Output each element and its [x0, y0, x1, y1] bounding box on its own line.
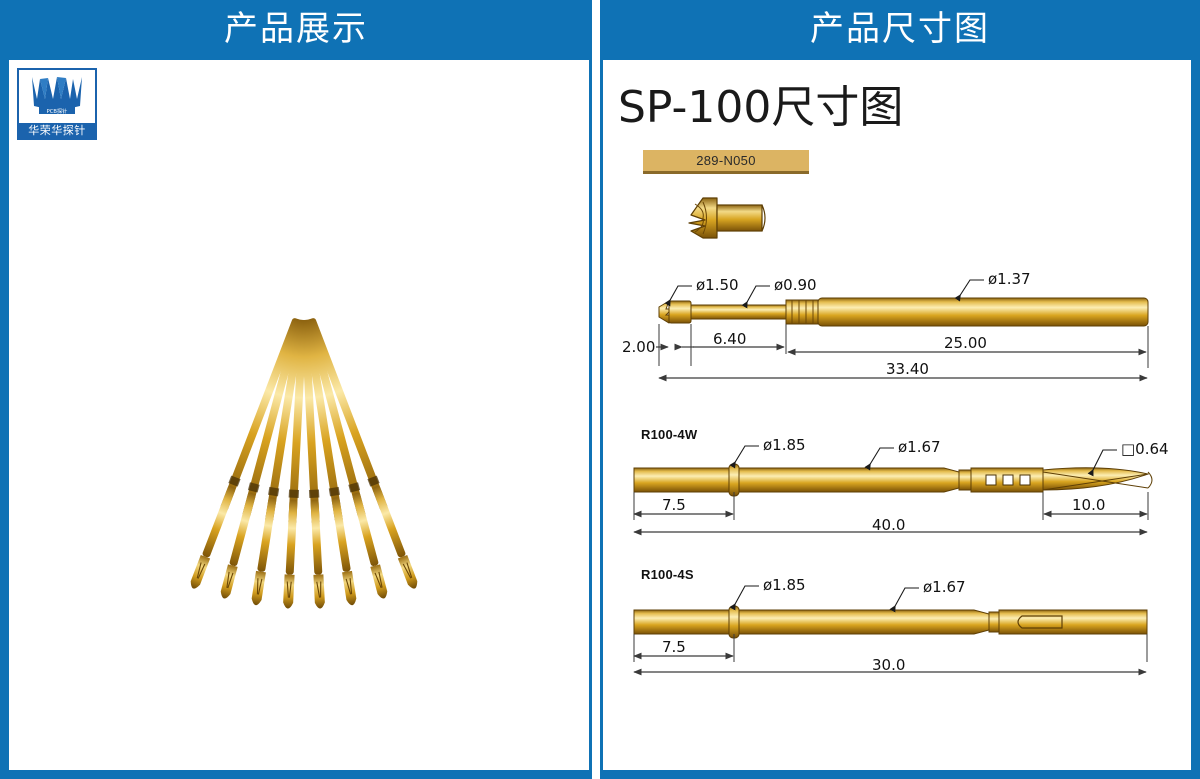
page-title: SP-100尺寸图: [618, 86, 903, 130]
crown-tip-detail-illustration: [645, 192, 785, 244]
dim-4w-l1: 7.5: [662, 496, 686, 514]
dim-l3: 25.00: [944, 334, 987, 352]
product-spec-page: 产品展示 产品尺寸图 PCB探针 华荣华探针: [0, 0, 1200, 779]
dim-l2: 6.40: [713, 330, 746, 348]
dim-l1: 2.00: [622, 338, 655, 356]
crown-probe-mark-icon: PCB探针: [27, 73, 87, 117]
dim-4w-l3: 10.0: [1072, 496, 1105, 514]
dim-4w-d3: □0.64: [1121, 440, 1169, 458]
dim-4s-d1: ø1.85: [763, 576, 806, 594]
header-bar-product-dimensions: 产品尺寸图: [600, 0, 1200, 58]
dim-4s-l2: 30.0: [872, 656, 905, 674]
header-bar-product-display: 产品展示: [0, 0, 592, 58]
dim-d2: ø0.90: [774, 276, 817, 294]
r100-4w-drawing: ø1.85 ø1.67 □0.64 7.5 10.0 40.0: [614, 420, 1190, 538]
sp100-main-drawing: ø1.50 ø0.90 ø1.37 2.00 6.40 25.00 33.40: [614, 262, 1190, 396]
dim-4s-d2: ø1.67: [923, 578, 966, 596]
model-badge-label: 289-N050: [696, 153, 756, 168]
r100-4s-drawing: ø1.85 ø1.67 7.5 30.0: [614, 560, 1190, 680]
product-photo-probes: [79, 290, 529, 620]
dim-4w-d1: ø1.85: [763, 436, 806, 454]
dim-4w-d2: ø1.67: [898, 438, 941, 456]
logo-brand-text: 华荣华探针: [19, 123, 95, 138]
dim-4s-l1: 7.5: [662, 638, 686, 656]
dim-l4: 33.40: [886, 360, 929, 378]
logo-inner-text: PCB探针: [47, 107, 68, 115]
company-logo: PCB探针 华荣华探针: [17, 68, 97, 140]
header-title-left: 产品展示: [224, 12, 368, 46]
dim-d1: ø1.50: [696, 276, 739, 294]
model-badge: 289-N050: [643, 150, 809, 174]
header-title-right: 产品尺寸图: [810, 12, 990, 46]
dim-4w-l2: 40.0: [872, 516, 905, 534]
dim-d3: ø1.37: [988, 270, 1031, 288]
product-display-panel: PCB探针 华荣华探针: [0, 58, 592, 779]
